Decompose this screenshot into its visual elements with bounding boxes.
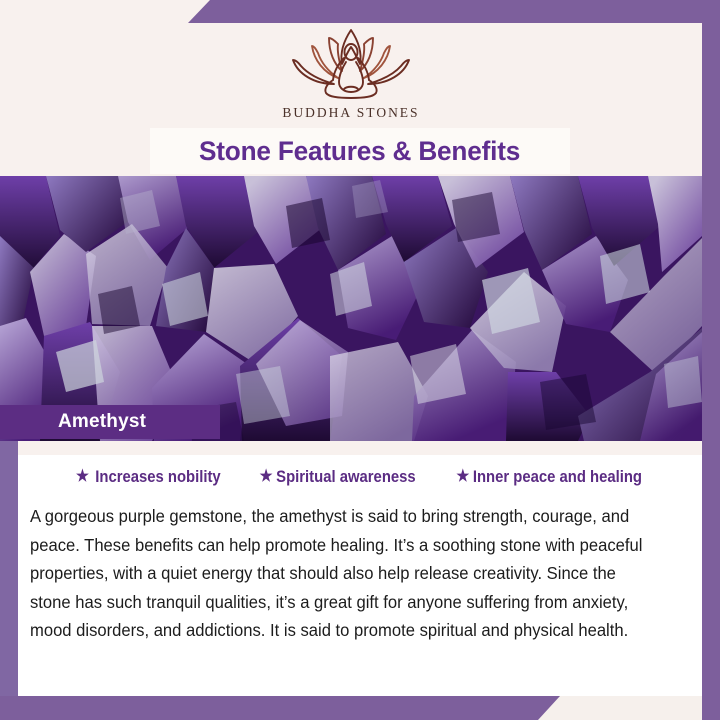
star-icon: ★ [456,469,469,485]
amethyst-hero-image [0,176,702,441]
brand-name: BUDDHA STONES [282,105,419,121]
brand-logo: BUDDHA STONES [0,24,702,121]
page-title: Stone Features & Benefits [199,136,520,167]
stone-name-text: Amethyst [58,411,146,433]
crystal-cluster-graphic [0,176,702,441]
star-icon: ★ [76,469,89,485]
infographic-page: BUDDHA STONES Stone Features & Benefits [0,0,720,720]
lotus-meditation-figure-icon [276,24,426,102]
right-purple-border [702,0,720,720]
benefit-item-3: ★ Inner peace and healing [456,468,642,487]
benefit-label-1: Increases nobility [95,468,220,487]
stone-name-badge: Amethyst [0,405,220,439]
benefit-item-1: ★ Increases nobility [76,468,221,487]
benefits-row: ★ Increases nobility ★ Spiritual awarene… [18,462,702,492]
page-title-box: Stone Features & Benefits [150,128,570,174]
content-top-strip [18,441,702,455]
star-icon: ★ [259,469,272,485]
benefit-label-3: Inner peace and healing [473,468,642,487]
top-purple-accent-bar [188,0,720,23]
bottom-purple-accent-bar [0,696,560,720]
left-purple-border [0,441,18,720]
benefit-item-2: ★ Spiritual awareness [259,468,415,487]
benefit-label-2: Spiritual awareness [276,468,416,487]
header-section: BUDDHA STONES Stone Features & Benefits [0,0,702,176]
stone-description: A gorgeous purple gemstone, the amethyst… [30,502,660,645]
